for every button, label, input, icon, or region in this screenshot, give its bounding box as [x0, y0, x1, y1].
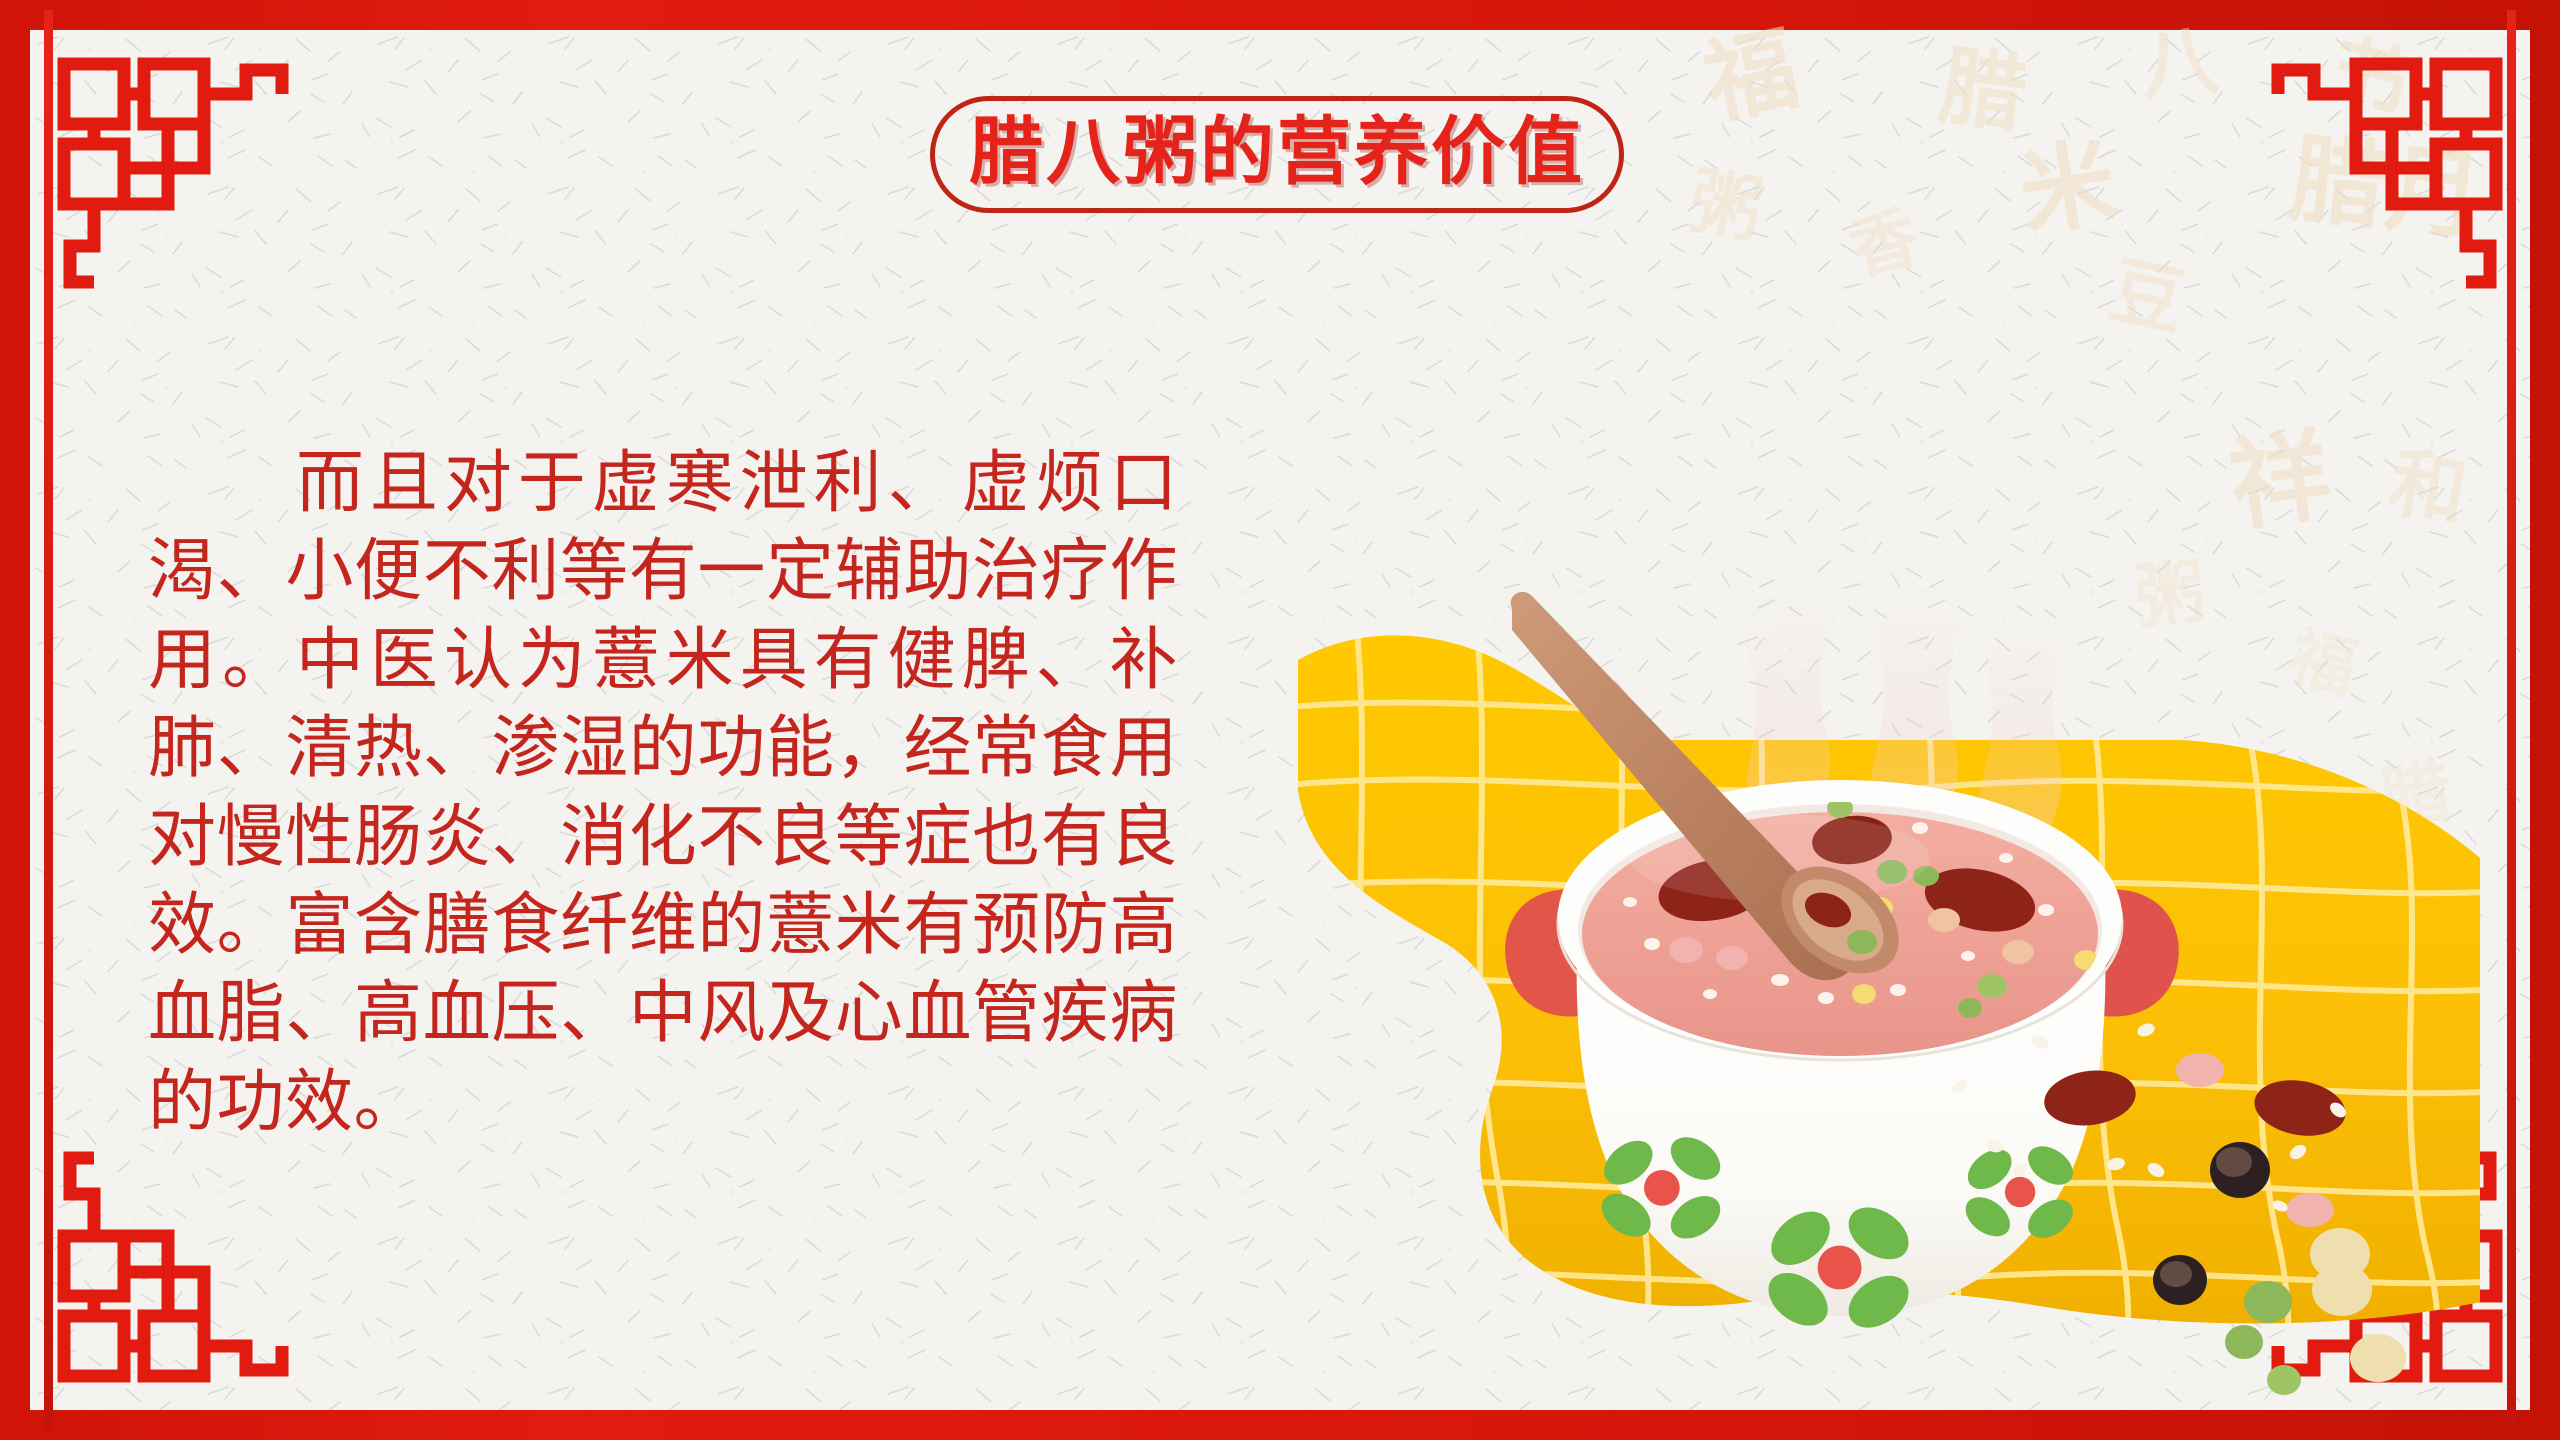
title-capsule: 腊八粥的营养价值 — [930, 96, 1624, 213]
body-paragraph: 而且对于虚寒泄利、虚烦口渴、小便不利等有一定辅助治疗作用。中医认为薏米具有健脾、… — [148, 440, 1178, 1147]
peanut — [2350, 1334, 2406, 1382]
peanut — [1928, 908, 1960, 932]
background-watermark-glyph: 和 — [2384, 444, 2472, 532]
green-bean — [2225, 1325, 2263, 1359]
background-watermark-glyph: 福 — [1696, 21, 1805, 130]
background-watermark-glyph: 腊 — [1934, 42, 2031, 139]
pink-bean — [1669, 937, 1703, 963]
corner-ornament-top-right — [2230, 50, 2510, 330]
peanut — [2312, 1264, 2372, 1316]
background-watermark-glyph: 祥 — [2224, 424, 2337, 537]
background-watermark-glyph: 八 — [2136, 21, 2222, 107]
background-watermark-glyph: 米 — [2013, 133, 2123, 243]
corner-ornament-bottom-left — [50, 1110, 330, 1390]
pink-bean — [1716, 946, 1748, 970]
laba-porridge-illustration — [1280, 590, 2520, 1420]
background-watermark-glyph: 豆 — [2103, 253, 2191, 341]
peanut — [2002, 940, 2034, 964]
slide-root: 福腊八节粥米腊月香豆祥和粥福腊 — [0, 0, 2560, 1440]
pink-bean — [2176, 1053, 2224, 1087]
corn-kernel — [1852, 984, 1876, 1004]
pink-bean — [2286, 1193, 2334, 1227]
page-title: 腊八粥的营养价值 — [969, 115, 1585, 190]
green-bean — [2244, 1281, 2292, 1323]
corner-ornament-top-left — [50, 50, 330, 330]
green-bean — [1977, 974, 2007, 998]
green-bean-on-spoon — [1847, 930, 1877, 954]
green-bean — [1958, 998, 1982, 1018]
background-watermark-glyph: 粥 — [1684, 164, 1767, 247]
green-bean — [2267, 1365, 2301, 1395]
